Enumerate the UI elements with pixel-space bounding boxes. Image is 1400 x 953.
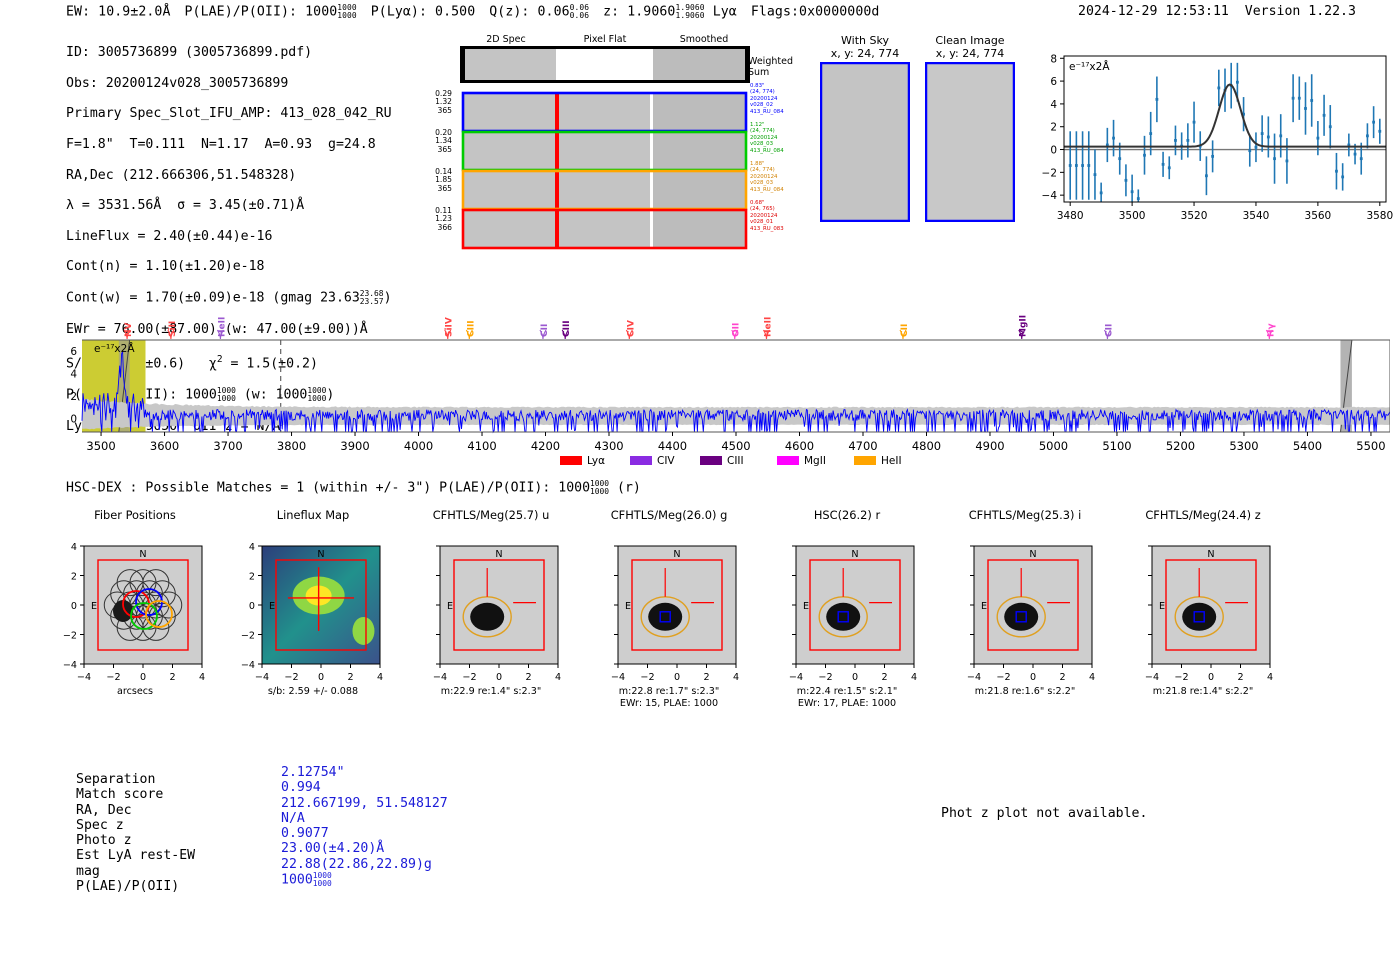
svg-text:e⁻¹⁷x2Å: e⁻¹⁷x2Å bbox=[94, 342, 135, 355]
svg-text:2: 2 bbox=[1050, 122, 1057, 134]
fiber-right-labels-2: 1.12"(24, 774)20200124v028_03413_RU_084 bbox=[750, 122, 784, 154]
imaging-panel-caption-1: m:22.8 re:1.7" s:2.3" bbox=[580, 686, 758, 697]
clean-image-title: Clean Image bbox=[935, 34, 1004, 47]
svg-text:−2: −2 bbox=[818, 672, 832, 683]
svg-text:−4: −4 bbox=[611, 672, 625, 683]
svg-text:0: 0 bbox=[249, 601, 255, 612]
header-z: z: 1.9060 bbox=[603, 4, 675, 19]
svg-text:0: 0 bbox=[1050, 145, 1057, 157]
imaging-panel-caption-2: EWr: 15, PLAE: 1000 bbox=[580, 698, 758, 709]
clean-image-cutout: Clean Image x, y: 24, 774 bbox=[925, 34, 1015, 222]
imaging-panel-image: NE−4−2024420−2−4 bbox=[224, 524, 402, 699]
svg-text:N: N bbox=[1029, 549, 1036, 560]
imaging-panel-2: CFHTLS/Meg(25.7) uNE−4−2024m:22.9 re:1.4… bbox=[402, 508, 580, 522]
svg-text:0: 0 bbox=[852, 672, 858, 683]
svg-text:0: 0 bbox=[70, 414, 77, 426]
full-spectrum-plot: NVSiIIHeIISiIVCIIICIICIIICIVOIIHeIICIIMg… bbox=[60, 312, 1390, 472]
svg-text:3500: 3500 bbox=[86, 439, 115, 453]
svg-text:CIV: CIV bbox=[626, 320, 636, 337]
svg-text:−2: −2 bbox=[462, 672, 476, 683]
svg-text:−2: −2 bbox=[1174, 672, 1188, 683]
svg-text:3600: 3600 bbox=[150, 439, 179, 453]
svg-text:4100: 4100 bbox=[467, 439, 496, 453]
svg-text:4: 4 bbox=[377, 672, 383, 683]
svg-text:−4: −4 bbox=[77, 672, 91, 683]
info-line-fwhm: F=1.8" T=0.111 N=1.17 A=0.93 g=24.8 bbox=[66, 137, 392, 152]
match-table-key: RA, Dec bbox=[76, 803, 132, 818]
imaging-panel-caption-1: m:22.9 re:1.4" s:2.3" bbox=[402, 686, 580, 697]
svg-text:4: 4 bbox=[249, 542, 255, 553]
info-line-primary-spec: Primary Spec_Slot_IFU_AMP: 413_028_042_R… bbox=[66, 106, 392, 121]
svg-text:N: N bbox=[139, 549, 146, 560]
line-zoom-plot: −4−202468348035003520354035603580e⁻¹⁷x2Å bbox=[1028, 44, 1394, 240]
imaging-panel-image: NE−4−2024 bbox=[1114, 524, 1292, 699]
svg-text:E: E bbox=[91, 601, 97, 612]
imaging-panel-title: Lineflux Map bbox=[224, 508, 402, 522]
imaging-panel-5: CFHTLS/Meg(25.3) iNE−4−2024m:21.8 re:1.6… bbox=[936, 508, 1114, 522]
hscdex-header-text: HSC-DEX : Possible Matches = 1 (within +… bbox=[66, 480, 590, 495]
svg-text:2: 2 bbox=[347, 672, 353, 683]
svg-text:0: 0 bbox=[140, 672, 146, 683]
svg-text:CII: CII bbox=[900, 324, 910, 337]
spec2d-caption-pixelflat: Pixel Flat bbox=[557, 34, 653, 45]
version: Version 1.22.3 bbox=[1245, 4, 1356, 19]
svg-text:4400: 4400 bbox=[658, 439, 687, 453]
spec2d-caption-2dspec: 2D Spec bbox=[458, 34, 554, 45]
svg-text:N: N bbox=[851, 549, 858, 560]
svg-text:−4: −4 bbox=[789, 672, 803, 683]
svg-text:2: 2 bbox=[249, 572, 255, 583]
svg-text:CIII: CIII bbox=[466, 320, 476, 337]
match-table-value: 2.12754" bbox=[281, 765, 345, 780]
imaging-panel-caption-1: arcsecs bbox=[46, 686, 224, 697]
svg-text:E: E bbox=[803, 601, 809, 612]
imaging-panel-image: NE−4−2024 bbox=[580, 524, 758, 699]
match-table-key: Est LyA rest-EW bbox=[76, 848, 195, 863]
svg-text:4: 4 bbox=[555, 672, 561, 683]
svg-text:3700: 3700 bbox=[213, 439, 242, 453]
match-table-value: 212.667199, 51.548127 bbox=[281, 796, 448, 811]
svg-text:−4: −4 bbox=[1145, 672, 1159, 683]
svg-text:4700: 4700 bbox=[848, 439, 877, 453]
svg-text:E: E bbox=[269, 601, 275, 612]
imaging-panel-caption-1: m:21.8 re:1.4" s:2.2" bbox=[1114, 686, 1292, 697]
svg-text:Hγ: Hγ bbox=[1266, 323, 1276, 337]
svg-text:−2: −2 bbox=[241, 631, 255, 642]
svg-text:NV: NV bbox=[124, 322, 134, 337]
fiber-right-labels-4: 0.68"(24, 765)20200124v028_01413_RU_083 bbox=[750, 200, 784, 232]
fiber-left-labels-4: 0.111.23366 bbox=[410, 207, 452, 232]
imaging-panel-image: NE−4−2024420−2−4 bbox=[46, 524, 224, 699]
svg-text:N: N bbox=[1207, 549, 1214, 560]
svg-text:HeII: HeII bbox=[881, 455, 902, 467]
hscdex-plae-range: 10001000 bbox=[590, 480, 609, 496]
fiber-left-labels-1: 0.291.32365 bbox=[410, 90, 452, 115]
svg-text:0: 0 bbox=[674, 672, 680, 683]
svg-text:CII: CII bbox=[1104, 324, 1114, 337]
svg-text:−4: −4 bbox=[241, 660, 255, 671]
match-table-value: 23.00(±4.20)Å bbox=[281, 841, 384, 856]
match-table-value: 0.9077 bbox=[281, 826, 329, 841]
svg-text:2: 2 bbox=[71, 572, 77, 583]
svg-text:−4: −4 bbox=[63, 660, 77, 671]
svg-text:−4: −4 bbox=[967, 672, 981, 683]
svg-text:N: N bbox=[495, 549, 502, 560]
svg-text:e⁻¹⁷x2Å: e⁻¹⁷x2Å bbox=[1069, 60, 1110, 73]
svg-text:E: E bbox=[625, 601, 631, 612]
svg-text:−2: −2 bbox=[284, 672, 298, 683]
imaging-panel-title: CFHTLS/Meg(26.0) g bbox=[580, 508, 758, 522]
svg-text:−4: −4 bbox=[255, 672, 269, 683]
svg-text:5000: 5000 bbox=[1039, 439, 1068, 453]
svg-text:CIII: CIII bbox=[562, 320, 572, 337]
svg-text:SiII: SiII bbox=[168, 321, 178, 337]
svg-text:MgII: MgII bbox=[804, 455, 826, 467]
header-plae-label: P(LAE)/P(OII): 1000 bbox=[185, 4, 338, 19]
imaging-panel-image: NE−4−2024 bbox=[758, 524, 936, 699]
info-line-cont-n: Cont(n) = 1.10(±1.20)e-18 bbox=[66, 259, 392, 274]
svg-text:2: 2 bbox=[70, 391, 77, 403]
svg-text:−4: −4 bbox=[433, 672, 447, 683]
svg-text:4900: 4900 bbox=[975, 439, 1004, 453]
svg-text:4800: 4800 bbox=[912, 439, 941, 453]
svg-text:2: 2 bbox=[881, 672, 887, 683]
match-table-key: Photo z bbox=[76, 833, 132, 848]
svg-text:5500: 5500 bbox=[1356, 439, 1385, 453]
svg-text:0: 0 bbox=[1030, 672, 1036, 683]
header-summary-line: EW: 10.9±2.0ÅP(LAE)/P(OII): 100010001000… bbox=[66, 4, 879, 20]
svg-text:5400: 5400 bbox=[1293, 439, 1322, 453]
svg-text:E: E bbox=[1159, 601, 1165, 612]
svg-text:Lyα: Lyα bbox=[587, 455, 605, 467]
imaging-panel-title: CFHTLS/Meg(25.3) i bbox=[936, 508, 1114, 522]
header-ew: EW: 10.9±2.0Å bbox=[66, 4, 171, 19]
info-line-radec: RA,Dec (212.666306,51.548328) bbox=[66, 168, 392, 183]
spec2d-panel: 2D Spec Pixel Flat Smoothed bbox=[460, 34, 780, 249]
fiber-right-labels-3: 1.88"(24, 774)20200124v028_03413_RU_084 bbox=[750, 161, 784, 193]
svg-text:3800: 3800 bbox=[277, 439, 306, 453]
match-table-key: Match score bbox=[76, 787, 163, 802]
imaging-panel-title: Fiber Positions bbox=[46, 508, 224, 522]
svg-text:−2: −2 bbox=[640, 672, 654, 683]
match-table-key: Spec z bbox=[76, 818, 124, 833]
svg-text:6: 6 bbox=[1050, 76, 1057, 88]
svg-text:E: E bbox=[447, 601, 453, 612]
imaging-panel-3: CFHTLS/Meg(26.0) gNE−4−2024m:22.8 re:1.7… bbox=[580, 508, 758, 522]
info-line-obs: Obs: 20200124v028_3005736899 bbox=[66, 76, 392, 91]
svg-text:4600: 4600 bbox=[785, 439, 814, 453]
svg-text:2: 2 bbox=[1059, 672, 1065, 683]
header-qz-range: 0.060.06 bbox=[570, 4, 589, 20]
svg-text:8: 8 bbox=[1050, 53, 1057, 65]
svg-text:2: 2 bbox=[525, 672, 531, 683]
svg-text:CIII: CIII bbox=[727, 455, 744, 467]
fiber-right-labels-1: 0.83"(24, 774)20200124v028_02413_RU_084 bbox=[750, 83, 784, 115]
info-line-cont-w: Cont(w) = 1.70(±0.09)e-18 (gmag 23.6323.… bbox=[66, 290, 392, 306]
svg-text:−2: −2 bbox=[1042, 167, 1057, 179]
spec2d-weighted-sum-label: WeightedSum bbox=[748, 56, 798, 78]
imaging-panel-caption-1: s/b: 2.59 +/- 0.088 bbox=[224, 686, 402, 697]
svg-text:4: 4 bbox=[1050, 99, 1057, 111]
svg-text:E: E bbox=[981, 601, 987, 612]
svg-text:2: 2 bbox=[703, 672, 709, 683]
fiber-left-labels-3: 0.141.85365 bbox=[410, 168, 452, 193]
svg-text:5100: 5100 bbox=[1102, 439, 1131, 453]
match-table-value: 22.88(22.86,22.89)g bbox=[281, 857, 432, 872]
svg-text:−2: −2 bbox=[996, 672, 1010, 683]
svg-text:−2: −2 bbox=[106, 672, 120, 683]
svg-text:6: 6 bbox=[70, 346, 77, 358]
hscdex-header-tail: (r) bbox=[617, 480, 641, 495]
match-table-value: N/A bbox=[281, 811, 305, 826]
svg-text:2: 2 bbox=[169, 672, 175, 683]
svg-text:0: 0 bbox=[71, 601, 77, 612]
svg-text:4: 4 bbox=[911, 672, 917, 683]
header-plya: P(Lyα): 0.500 bbox=[371, 4, 476, 19]
imaging-panel-image: NE−4−2024 bbox=[936, 524, 1114, 699]
imaging-panel-caption-2: EWr: 17, PLAE: 1000 bbox=[758, 698, 936, 709]
svg-text:3900: 3900 bbox=[340, 439, 369, 453]
svg-text:3560: 3560 bbox=[1305, 210, 1332, 222]
svg-text:3580: 3580 bbox=[1366, 210, 1393, 222]
hscdex-header: HSC-DEX : Possible Matches = 1 (within +… bbox=[66, 480, 641, 496]
svg-text:4: 4 bbox=[1267, 672, 1273, 683]
svg-text:3500: 3500 bbox=[1119, 210, 1146, 222]
imaging-panel-0: Fiber PositionsNE−4−2024420−2−4arcsecs bbox=[46, 508, 224, 522]
match-table-value: 100010001000 bbox=[281, 872, 332, 888]
svg-text:3520: 3520 bbox=[1181, 210, 1208, 222]
imaging-row: Fiber PositionsNE−4−2024420−2−4arcsecsLi… bbox=[46, 508, 1396, 738]
svg-text:3540: 3540 bbox=[1243, 210, 1270, 222]
info-line-lineflux: LineFlux = 2.40(±0.44)e-16 bbox=[66, 229, 392, 244]
imaging-panel-caption-1: m:21.8 re:1.6" s:2.2" bbox=[936, 686, 1114, 697]
header-z-range: 1.90601.9060 bbox=[675, 4, 704, 20]
match-table-key: Separation bbox=[76, 772, 155, 787]
svg-text:0: 0 bbox=[318, 672, 324, 683]
svg-text:2: 2 bbox=[1237, 672, 1243, 683]
header-timestamp-version: 2024-12-29 12:53:11 Version 1.22.3 bbox=[1078, 4, 1356, 19]
svg-text:4: 4 bbox=[71, 542, 77, 553]
svg-text:4300: 4300 bbox=[594, 439, 623, 453]
fiber-left-labels-2: 0.201.34365 bbox=[410, 129, 452, 154]
header-flags: Flags:0x0000000d bbox=[751, 4, 880, 19]
svg-text:CIV: CIV bbox=[657, 455, 675, 467]
svg-text:4500: 4500 bbox=[721, 439, 750, 453]
photz-note: Phot z plot not available. bbox=[941, 806, 1147, 821]
svg-text:0: 0 bbox=[496, 672, 502, 683]
clean-image-subtitle: x, y: 24, 774 bbox=[936, 47, 1004, 60]
imaging-panel-6: CFHTLS/Meg(24.4) zNE−4−2024m:21.8 re:1.4… bbox=[1114, 508, 1292, 522]
imaging-panel-title: HSC(26.2) r bbox=[758, 508, 936, 522]
svg-text:4: 4 bbox=[199, 672, 205, 683]
imaging-panel-title: CFHTLS/Meg(24.4) z bbox=[1114, 508, 1292, 522]
svg-text:3480: 3480 bbox=[1057, 210, 1084, 222]
svg-text:N: N bbox=[317, 549, 324, 560]
with-sky-cutout: With Sky x, y: 24, 774 bbox=[820, 34, 910, 222]
with-sky-subtitle: x, y: 24, 774 bbox=[831, 47, 899, 60]
match-table-value: 0.994 bbox=[281, 780, 321, 795]
svg-text:−4: −4 bbox=[1042, 190, 1058, 202]
svg-text:4: 4 bbox=[70, 369, 77, 381]
spec2d-caption-smoothed: Smoothed bbox=[656, 34, 752, 45]
svg-text:4: 4 bbox=[1089, 672, 1095, 683]
imaging-panel-1: Lineflux MapNE−4−2024420−2−4s/b: 2.59 +/… bbox=[224, 508, 402, 522]
imaging-panel-4: HSC(26.2) rNE−4−2024m:22.4 re:1.5" s:2.1… bbox=[758, 508, 936, 522]
imaging-panel-title: CFHTLS/Meg(25.7) u bbox=[402, 508, 580, 522]
svg-text:4200: 4200 bbox=[531, 439, 560, 453]
spec2d-svg bbox=[460, 46, 780, 251]
match-table-key: mag bbox=[76, 864, 100, 879]
svg-text:4000: 4000 bbox=[404, 439, 433, 453]
svg-text:CII: CII bbox=[540, 324, 550, 337]
info-line-id: ID: 3005736899 (3005736899.pdf) bbox=[66, 45, 392, 60]
svg-text:5200: 5200 bbox=[1166, 439, 1195, 453]
header-plae-range: 10001000 bbox=[337, 4, 356, 20]
svg-text:N: N bbox=[673, 549, 680, 560]
imaging-panel-image: NE−4−2024 bbox=[402, 524, 580, 699]
with-sky-title: With Sky bbox=[841, 34, 889, 47]
info-line-wavelength: λ = 3531.56Å σ = 3.45(±0.71)Å bbox=[66, 198, 392, 213]
header-qz: Q(z): 0.06 bbox=[489, 4, 569, 19]
header-z-type: Lyα bbox=[713, 4, 737, 19]
svg-text:−2: −2 bbox=[63, 631, 77, 642]
svg-text:5300: 5300 bbox=[1229, 439, 1258, 453]
match-table-key: P(LAE)/P(OII) bbox=[76, 879, 179, 894]
timestamp: 2024-12-29 12:53:11 bbox=[1078, 4, 1229, 19]
svg-text:4: 4 bbox=[733, 672, 739, 683]
svg-text:OII: OII bbox=[732, 323, 742, 337]
imaging-panel-caption-1: m:22.4 re:1.5" s:2.1" bbox=[758, 686, 936, 697]
svg-text:0: 0 bbox=[1208, 672, 1214, 683]
